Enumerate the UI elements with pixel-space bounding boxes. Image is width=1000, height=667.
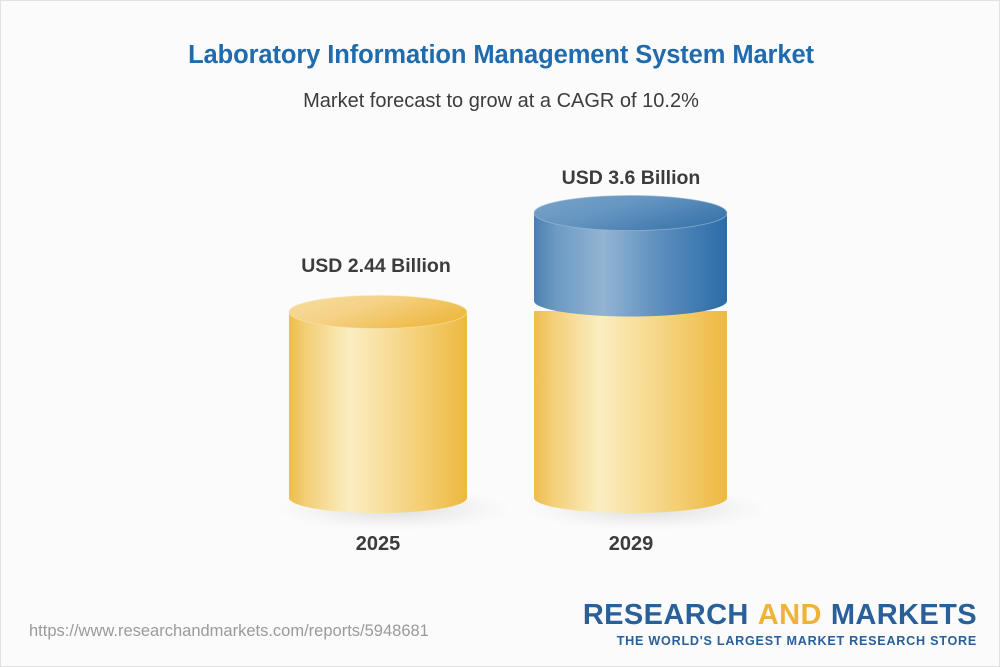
bar-2029-category-label: 2029 bbox=[491, 533, 771, 556]
logo-word-research: RESEARCH bbox=[583, 599, 749, 631]
bar-2029-value-label: USD 3.6 Billion bbox=[491, 167, 771, 190]
bar-2025-value-label: USD 2.44 Billion bbox=[236, 255, 516, 278]
bar-2025-body bbox=[289, 312, 467, 513]
market-forecast-infographic: Laboratory Information Management System… bbox=[0, 0, 1000, 667]
bar-2025-category-label: 2025 bbox=[238, 533, 518, 556]
bar-2029 bbox=[524, 196, 768, 532]
logo-wordmark: RESEARCHANDMARKETS bbox=[583, 601, 977, 630]
bar-2029-base-segment bbox=[534, 311, 727, 513]
research-and-markets-logo[interactable]: RESEARCHANDMARKETS THE WORLD'S LARGEST M… bbox=[583, 601, 977, 648]
source-url[interactable]: https://www.researchandmarkets.com/repor… bbox=[29, 622, 429, 641]
logo-tagline: THE WORLD'S LARGEST MARKET RESEARCH STOR… bbox=[583, 635, 977, 648]
cylinder-chart-plot bbox=[1, 1, 1000, 667]
logo-word-markets: MARKETS bbox=[831, 599, 977, 631]
logo-word-and: AND bbox=[758, 599, 822, 631]
bar-2025 bbox=[275, 296, 511, 532]
